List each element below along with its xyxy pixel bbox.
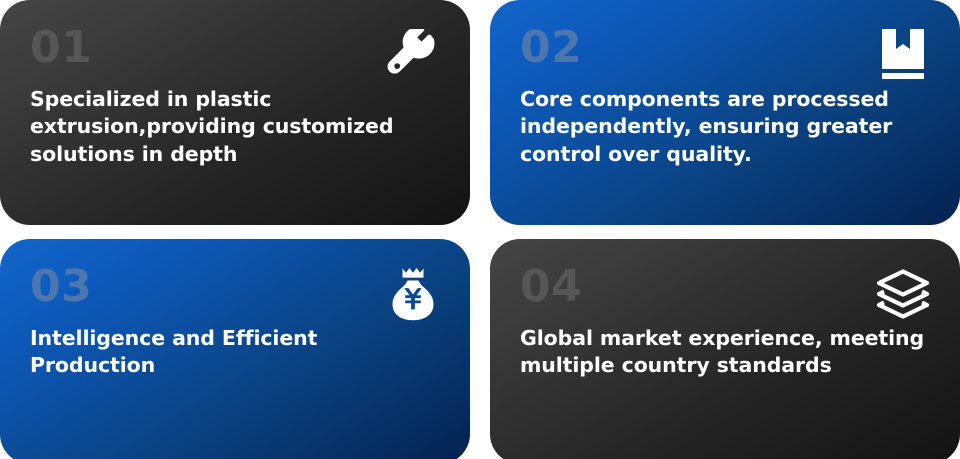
- feature-card-01[interactable]: 01 Specialized in plastic extrusion,prov…: [0, 0, 470, 225]
- card-text: Global market experience, meeting multip…: [520, 325, 930, 380]
- card-number: 01: [30, 26, 440, 70]
- feature-card-03[interactable]: 03 Intelligence and Efficient Production: [0, 239, 470, 459]
- wrench-icon: [384, 26, 442, 84]
- card-number: 03: [30, 265, 440, 309]
- card-text: Intelligence and Efficient Production: [30, 325, 440, 380]
- card-text: Core components are processed independen…: [520, 86, 930, 168]
- card-number: 04: [520, 265, 930, 309]
- money-bag-yen-icon: [384, 265, 442, 323]
- card-text: Specialized in plastic extrusion,providi…: [30, 86, 440, 168]
- book-bookmark-icon: [874, 26, 932, 84]
- feature-card-02[interactable]: 02 Core components are processed indepen…: [490, 0, 960, 225]
- card-number: 02: [520, 26, 930, 70]
- feature-card-04[interactable]: 04 Global market experience, meeting mul…: [490, 239, 960, 459]
- feature-card-grid: 01 Specialized in plastic extrusion,prov…: [0, 0, 960, 459]
- layers-stack-icon: [874, 265, 932, 323]
